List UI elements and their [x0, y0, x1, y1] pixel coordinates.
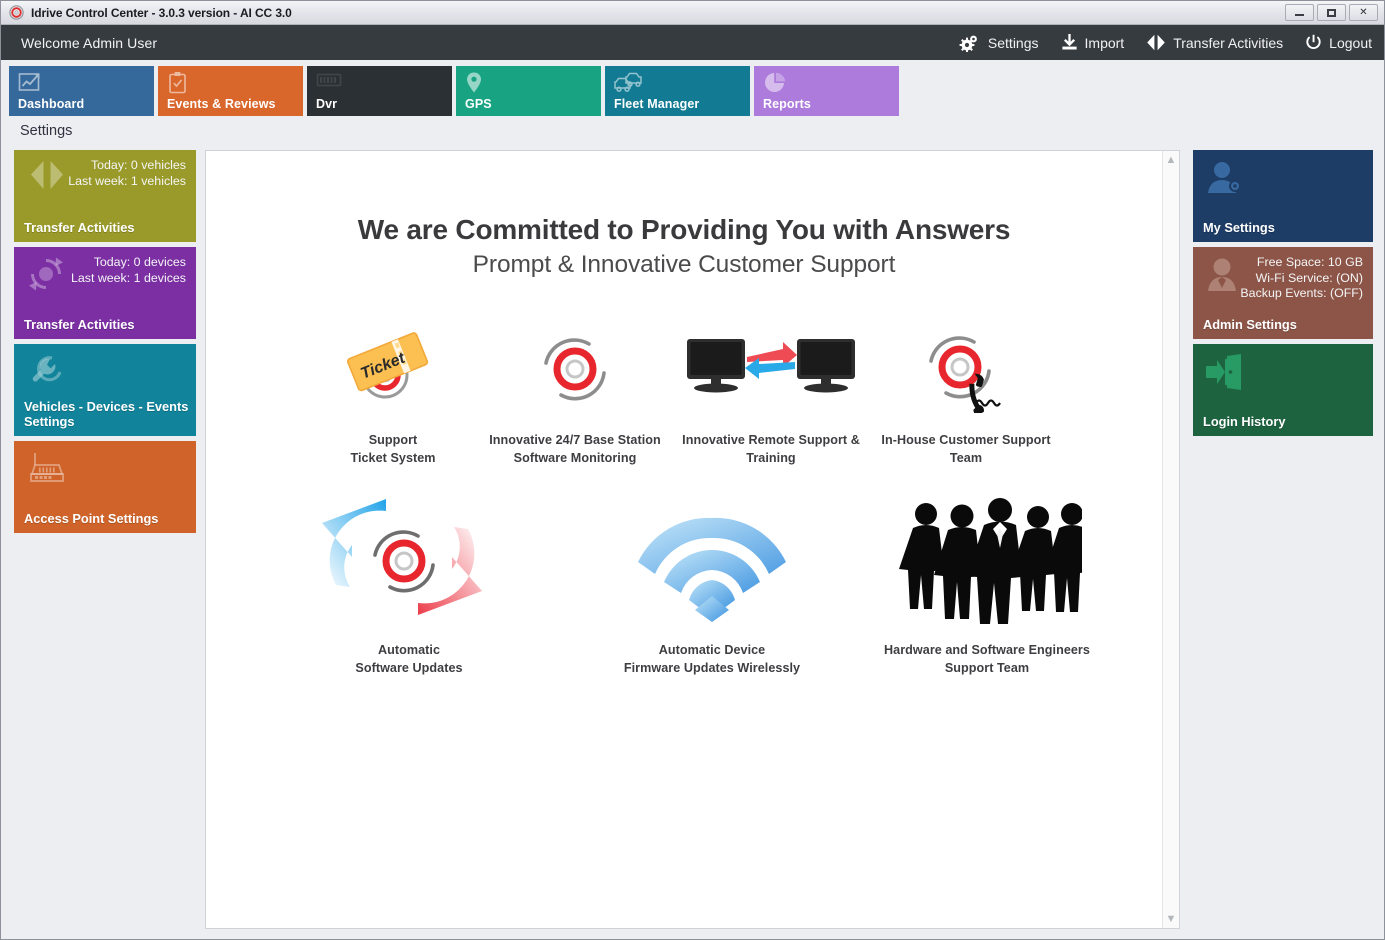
- breadcrumb-label: Settings: [20, 123, 72, 139]
- vehicles-icon: [614, 71, 644, 98]
- tile-stat-line: Backup Events: (OFF): [1203, 286, 1363, 302]
- tile-access-point-settings[interactable]: Access Point Settings: [14, 441, 196, 533]
- remote-monitors-icon: [671, 321, 871, 417]
- maximize-button[interactable]: [1317, 4, 1346, 21]
- page-body: Today: 0 vehicles Last week: 1 vehicles …: [1, 146, 1384, 939]
- caption-line: Automatic Device: [562, 641, 862, 659]
- title-bar: Idrive Control Center - 3.0.3 version - …: [1, 1, 1384, 25]
- caption-line: Support Team: [862, 659, 1112, 677]
- feature-remote-support: Innovative Remote Support & Training: [671, 321, 871, 467]
- feature-in-house-support: In-House Customer Support Team: [871, 321, 1061, 467]
- toolbar-settings-button[interactable]: Settings: [959, 34, 1039, 52]
- minimize-button[interactable]: [1285, 4, 1314, 21]
- tile-stats: Free Space: 10 GB Wi-Fi Service: (ON) Ba…: [1203, 255, 1363, 302]
- top-toolbar: Welcome Admin User: [1, 25, 1384, 60]
- support-ticket-icon: Ticket: [307, 321, 479, 417]
- user-settings-icon: [1205, 159, 1245, 204]
- dvr-icon: [316, 71, 342, 96]
- tab-dvr[interactable]: Dvr: [307, 66, 452, 116]
- tile-stat-line: Wi-Fi Service: (ON): [1203, 271, 1363, 287]
- caption-line: Software Monitoring: [479, 449, 671, 467]
- tile-stat-line: Free Space: 10 GB: [1203, 255, 1363, 271]
- tile-transfer-activities-devices[interactable]: Today: 0 devices Last week: 1 devices Tr…: [14, 247, 196, 339]
- application-window: Idrive Control Center - 3.0.3 version - …: [0, 0, 1385, 940]
- caption-line: Training: [671, 449, 871, 467]
- tab-reports-label: Reports: [763, 97, 811, 111]
- left-tile-column: Today: 0 vehicles Last week: 1 vehicles …: [14, 150, 196, 929]
- top-toolbar-actions: Settings Import Transf: [959, 34, 1372, 52]
- tile-my-settings[interactable]: My Settings: [1193, 150, 1373, 242]
- page-subtitle: Prompt & Innovative Customer Support: [206, 251, 1162, 279]
- phone-support-icon: [871, 321, 1061, 417]
- caption-line: Automatic: [256, 641, 562, 659]
- auto-update-icon: [256, 495, 562, 627]
- feature-support-ticket: Ticket Support Ticket System: [307, 321, 479, 467]
- scroll-down-arrow[interactable]: ▼: [1166, 914, 1177, 924]
- page-title: We are Committed to Providing You with A…: [206, 213, 1162, 247]
- login-exit-icon: [1205, 353, 1245, 396]
- tile-title: Admin Settings: [1203, 317, 1297, 332]
- tab-fleet-manager-label: Fleet Manager: [614, 97, 699, 111]
- tab-gps-label: GPS: [465, 97, 492, 111]
- maximize-icon: [1327, 9, 1336, 17]
- caption-line: Innovative 24/7 Base Station: [479, 431, 671, 449]
- vertical-scrollbar[interactable]: ▲ ▼: [1162, 151, 1179, 928]
- clipboard-check-icon: [167, 71, 189, 100]
- window-title: Idrive Control Center - 3.0.3 version - …: [31, 6, 292, 20]
- tile-title: Transfer Activities: [24, 317, 134, 332]
- tile-stat-line: Today: 0 vehicles: [24, 158, 186, 174]
- right-tile-column: My Settings Free Space: 10 GB Wi-Fi Serv…: [1193, 150, 1373, 929]
- tab-dvr-label: Dvr: [316, 97, 337, 111]
- tile-admin-settings[interactable]: Free Space: 10 GB Wi-Fi Service: (ON) Ba…: [1193, 247, 1373, 339]
- tab-reports[interactable]: Reports: [754, 66, 899, 116]
- tile-vehicles-devices-events-settings[interactable]: Vehicles - Devices - Events Settings: [14, 344, 196, 436]
- power-icon: [1305, 34, 1322, 51]
- feature-base-station: Innovative 24/7 Base Station Software Mo…: [479, 321, 671, 467]
- scroll-up-arrow[interactable]: ▲: [1166, 155, 1177, 165]
- tile-login-history[interactable]: Login History: [1193, 344, 1373, 436]
- caption-line: Software Updates: [256, 659, 562, 677]
- feature-caption: Innovative 24/7 Base Station Software Mo…: [479, 431, 671, 467]
- minimize-icon: [1295, 14, 1304, 16]
- caption-line: Support: [307, 431, 479, 449]
- tile-transfer-activities-vehicles[interactable]: Today: 0 vehicles Last week: 1 vehicles …: [14, 150, 196, 242]
- tile-title: Access Point Settings: [24, 511, 158, 526]
- feature-caption: Automatic Software Updates: [256, 641, 562, 677]
- toolbar-import-button[interactable]: Import: [1061, 34, 1125, 51]
- hero-section: We are Committed to Providing You with A…: [206, 151, 1162, 279]
- tile-stats: Today: 0 vehicles Last week: 1 vehicles: [24, 158, 186, 189]
- feature-caption: Hardware and Software Engineers Support …: [862, 641, 1112, 677]
- gears-icon: [959, 34, 981, 52]
- tile-stat-line: Last week: 1 vehicles: [24, 174, 186, 190]
- content-panel: We are Committed to Providing You with A…: [205, 150, 1180, 929]
- toolbar-import-label: Import: [1085, 35, 1125, 51]
- feature-row-2: Automatic Software Updates: [206, 495, 1162, 677]
- tile-stats: Today: 0 devices Last week: 1 devices: [24, 255, 186, 286]
- welcome-label: Welcome Admin User: [21, 35, 157, 51]
- tile-title: My Settings: [1203, 220, 1275, 235]
- tile-title: Vehicles - Devices - Events Settings: [24, 399, 189, 429]
- content-canvas: We are Committed to Providing You with A…: [206, 151, 1162, 928]
- tab-fleet-manager[interactable]: Fleet Manager: [605, 66, 750, 116]
- transfer-icon: [1146, 34, 1166, 51]
- tab-events-reviews[interactable]: Events & Reviews: [158, 66, 303, 116]
- engineers-team-icon: [862, 495, 1112, 627]
- feature-row-1: Ticket Support Ticket System: [206, 321, 1162, 467]
- feature-caption: In-House Customer Support Team: [871, 431, 1061, 467]
- pie-chart-icon: [763, 71, 787, 100]
- wifi-icon: [562, 495, 862, 627]
- feature-caption: Automatic Device Firmware Updates Wirele…: [562, 641, 862, 677]
- feature-caption: Support Ticket System: [307, 431, 479, 467]
- feature-firmware-updates: Automatic Device Firmware Updates Wirele…: [562, 495, 862, 677]
- caption-line: Hardware and Software Engineers: [862, 641, 1112, 659]
- tile-title: Login History: [1203, 414, 1285, 429]
- target-icon: [9, 5, 24, 20]
- window-controls: ✕: [1285, 4, 1380, 21]
- caption-line: Ticket System: [307, 449, 479, 467]
- tab-dashboard-label: Dashboard: [18, 97, 84, 111]
- caption-line: Team: [871, 449, 1061, 467]
- feature-auto-software-updates: Automatic Software Updates: [256, 495, 562, 677]
- router-icon: [26, 450, 72, 493]
- caption-line: Innovative Remote Support &: [671, 431, 871, 449]
- caption-line: Firmware Updates Wirelessly: [562, 659, 862, 677]
- tab-gps[interactable]: GPS: [456, 66, 601, 116]
- map-pin-icon: [465, 71, 483, 100]
- chart-line-icon: [18, 71, 44, 100]
- feature-caption: Innovative Remote Support & Training: [671, 431, 871, 467]
- base-station-icon: [479, 321, 671, 417]
- toolbar-logout-label: Logout: [1329, 35, 1372, 51]
- close-button[interactable]: ✕: [1349, 4, 1378, 21]
- wrench-icon: [26, 353, 68, 398]
- toolbar-logout-button[interactable]: Logout: [1305, 34, 1372, 51]
- tile-stat-line: Today: 0 devices: [24, 255, 186, 271]
- tile-title: Transfer Activities: [24, 220, 134, 235]
- toolbar-settings-label: Settings: [988, 35, 1039, 51]
- tab-events-reviews-label: Events & Reviews: [167, 97, 276, 111]
- caption-line: In-House Customer Support: [871, 431, 1061, 449]
- download-icon: [1061, 34, 1078, 51]
- toolbar-transfer-activities-button[interactable]: Transfer Activities: [1146, 34, 1283, 51]
- module-tabs: Dashboard Events & Reviews: [1, 60, 1384, 116]
- toolbar-transfer-label: Transfer Activities: [1173, 35, 1283, 51]
- tab-dashboard[interactable]: Dashboard: [9, 66, 154, 116]
- breadcrumb: Settings: [1, 116, 1384, 146]
- tile-stat-line: Last week: 1 devices: [24, 271, 186, 287]
- feature-engineers-team: Hardware and Software Engineers Support …: [862, 495, 1112, 677]
